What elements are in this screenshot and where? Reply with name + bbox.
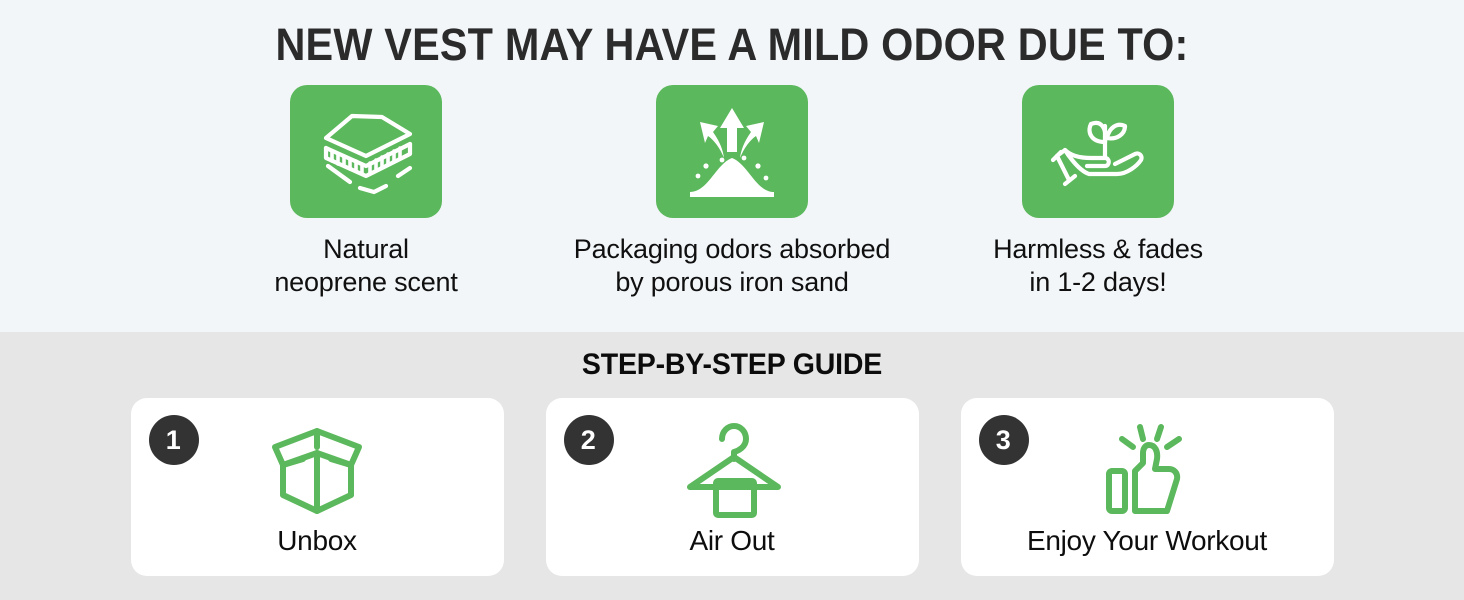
step-card-unbox[interactable]: 1	[131, 398, 504, 576]
odor-absorbing-sand-icon	[678, 102, 786, 202]
clothes-hanger-icon	[676, 421, 788, 519]
step-number-badge: 2	[564, 415, 614, 465]
infographic-root: NEW VEST MAY HAVE A MILD ODOR DUE TO:	[0, 0, 1464, 600]
step-icon-wrapper	[265, 420, 369, 520]
reason-caption-2: Packaging odors absorbed by porous iron …	[574, 233, 890, 299]
hand-holding-plant-icon	[1043, 104, 1153, 200]
step-number-badge: 1	[149, 415, 199, 465]
fabric-layers-icon	[312, 104, 420, 200]
reason-tile-1	[290, 85, 442, 218]
reason-tile-3	[1022, 85, 1174, 218]
odor-causes-section: NEW VEST MAY HAVE A MILD ODOR DUE TO:	[0, 0, 1464, 332]
step-by-step-section: STEP-BY-STEP GUIDE 1	[0, 332, 1464, 600]
reasons-row: Natural neoprene scent	[0, 85, 1464, 299]
reason-item-neoprene: Natural neoprene scent	[183, 85, 549, 299]
step-number-badge: 3	[979, 415, 1029, 465]
step-icon-wrapper	[676, 420, 788, 520]
step-label: Unbox	[277, 525, 356, 557]
open-box-icon	[265, 421, 369, 519]
reason-tile-2	[656, 85, 808, 218]
reason-item-eco: Harmless & fades in 1-2 days!	[915, 85, 1281, 299]
page-title: NEW VEST MAY HAVE A MILD ODOR DUE TO:	[59, 0, 1406, 67]
step-card-enjoy-workout[interactable]: 3	[961, 398, 1334, 576]
step-label: Enjoy Your Workout	[1027, 525, 1267, 557]
reason-item-sand: Packaging odors absorbed by porous iron …	[549, 85, 915, 299]
step-icon-wrapper	[1095, 420, 1199, 520]
guide-title: STEP-BY-STEP GUIDE	[37, 332, 1428, 382]
thumbs-up-icon	[1095, 421, 1199, 519]
step-label: Air Out	[689, 525, 774, 557]
step-card-air-out[interactable]: 2 Air Out	[546, 398, 919, 576]
steps-row: 1	[0, 398, 1464, 576]
reason-caption-3: Harmless & fades in 1-2 days!	[993, 233, 1203, 299]
reason-caption-1: Natural neoprene scent	[274, 233, 457, 299]
